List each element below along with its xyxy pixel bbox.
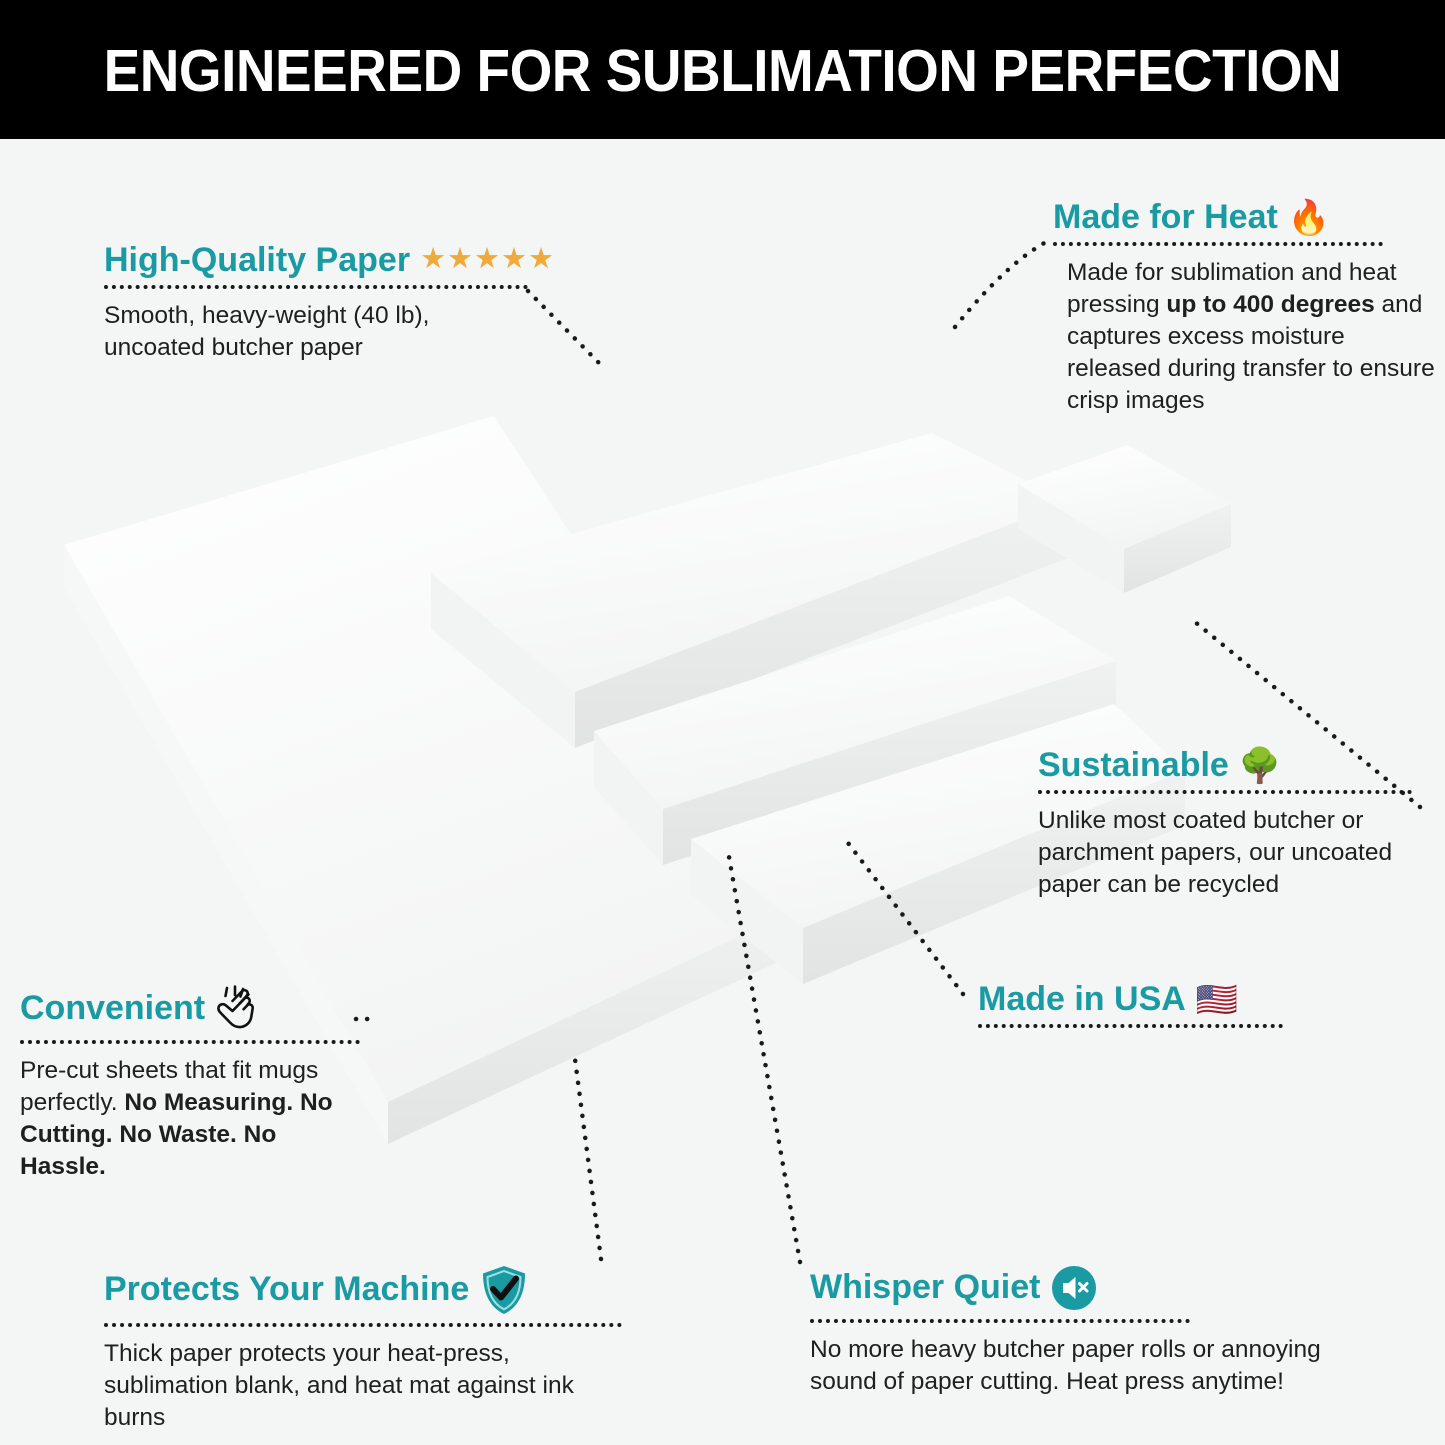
callout-body: No more heavy butcher paper rolls or ann… (810, 1334, 1380, 1398)
callout-divider (1038, 790, 1412, 794)
header-banner: ENGINEERED FOR SUBLIMATION PERFECTION (0, 0, 1445, 139)
callout-divider (810, 1319, 1190, 1323)
callout-divider (104, 1323, 622, 1327)
five-stars-icon: ★★★★★ (420, 245, 555, 274)
tree-emoji-icon: 🌳 (1239, 749, 1281, 783)
callout-divider (104, 285, 528, 289)
callout-title-text: Protects Your Machine (104, 1272, 469, 1307)
callout-title: Made in USA 🇺🇸 (978, 982, 1308, 1017)
callout-divider (1053, 242, 1383, 246)
callout-title: Convenient (20, 985, 365, 1033)
callout-title: Protects Your Machine (104, 1264, 624, 1316)
callout-title-text: Whisper Quiet (810, 1270, 1040, 1305)
callout-title-text: Sustainable (1038, 748, 1229, 783)
callout-title-text: Convenient (20, 991, 205, 1026)
body-text: Unlike most coated butcher or parchment … (1038, 807, 1392, 898)
callout-body: Smooth, heavy-weight (40 lb), uncoated b… (104, 300, 494, 364)
callout-title: High-Quality Paper ★★★★★ (104, 243, 584, 278)
usa-flag-emoji-icon: 🇺🇸 (1196, 983, 1238, 1017)
callout-title-text: Made in USA (978, 982, 1186, 1017)
body-text: No more heavy butcher paper rolls or ann… (810, 1336, 1321, 1395)
callout-high-quality-paper: High-Quality Paper ★★★★★ Smooth, heavy-w… (104, 243, 584, 364)
tap-hand-icon (215, 985, 261, 1033)
speaker-mute-icon (1050, 1264, 1098, 1312)
callout-divider (978, 1024, 1283, 1028)
body-text: Thick paper protects your heat-press, su… (104, 1340, 574, 1431)
callout-sustainable: Sustainable 🌳 Unlike most coated butcher… (1038, 748, 1438, 901)
callout-title: Whisper Quiet (810, 1264, 1380, 1312)
callout-body: Pre-cut sheets that fit mugs perfectly. … (20, 1055, 355, 1182)
callout-protects-your-machine: Protects Your Machine Thick paper protec… (104, 1264, 624, 1434)
callout-divider (20, 1040, 360, 1044)
callout-title-text: High-Quality Paper (104, 243, 410, 278)
callout-convenient: Convenient Pre-cut sheets that fit mugs … (20, 985, 365, 1182)
callout-body: Unlike most coated butcher or parchment … (1038, 805, 1430, 901)
callout-title: Made for Heat 🔥 (1053, 200, 1445, 235)
callout-body: Thick paper protects your heat-press, su… (104, 1338, 624, 1434)
paper-stack-small (1018, 445, 1231, 593)
callout-title: Sustainable 🌳 (1038, 748, 1438, 783)
fire-emoji-icon: 🔥 (1288, 201, 1330, 235)
callout-whisper-quiet: Whisper Quiet No more heavy butcher pape… (810, 1264, 1380, 1398)
infographic-page: ENGINEERED FOR SUBLIMATION PERFECTION (0, 0, 1445, 1445)
page-title: ENGINEERED FOR SUBLIMATION PERFECTION (104, 38, 1342, 101)
shield-check-icon (479, 1264, 529, 1316)
callout-body: Made for sublimation and heat pressing u… (1067, 257, 1435, 416)
callout-made-in-usa: Made in USA 🇺🇸 (978, 982, 1308, 1028)
callout-made-for-heat: Made for Heat 🔥 Made for sublimation and… (1053, 200, 1445, 417)
body-text-bold: up to 400 degrees (1166, 291, 1374, 318)
body-text: Smooth, heavy-weight (40 lb), uncoated b… (104, 302, 429, 361)
callout-title-text: Made for Heat (1053, 200, 1278, 235)
